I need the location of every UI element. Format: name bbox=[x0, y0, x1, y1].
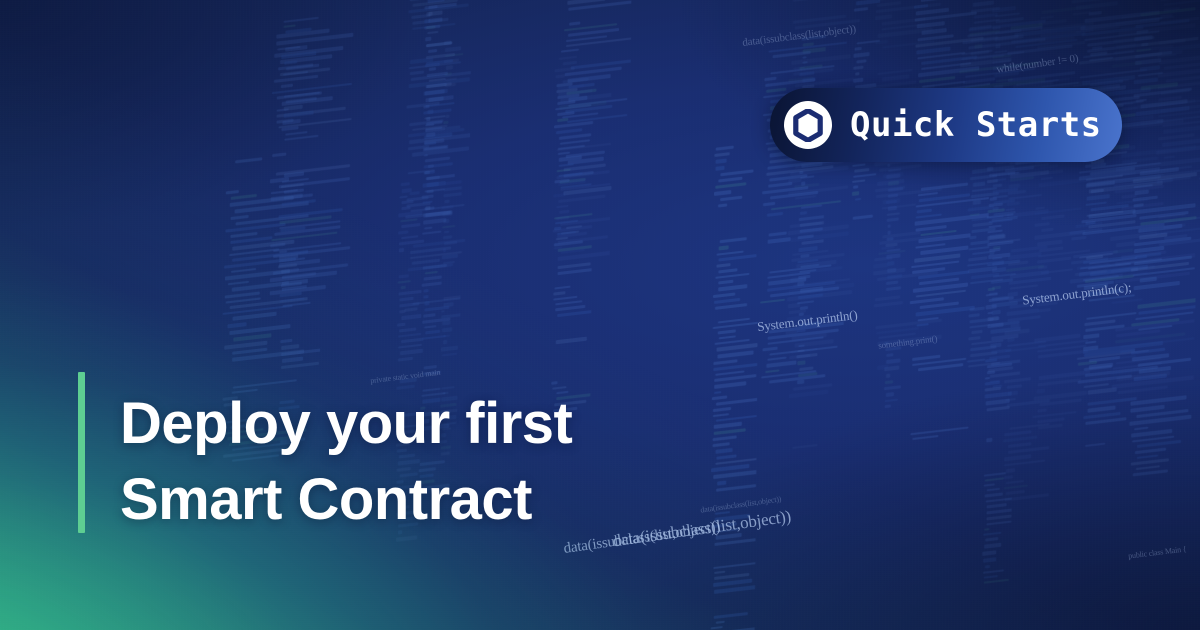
chainlink-hexagon-icon bbox=[784, 101, 832, 149]
page-title-line-1: Deploy your first bbox=[120, 386, 760, 462]
accent-bar bbox=[78, 372, 85, 533]
quickstarts-label: Quick Starts bbox=[850, 108, 1102, 142]
page-title: Deploy your first Smart Contract bbox=[120, 386, 760, 538]
page-title-line-2: Smart Contract bbox=[120, 462, 760, 538]
social-card: data(issubclass(list,object))while(numbe… bbox=[0, 0, 1200, 630]
quickstarts-badge[interactable]: Quick Starts bbox=[770, 88, 1122, 162]
